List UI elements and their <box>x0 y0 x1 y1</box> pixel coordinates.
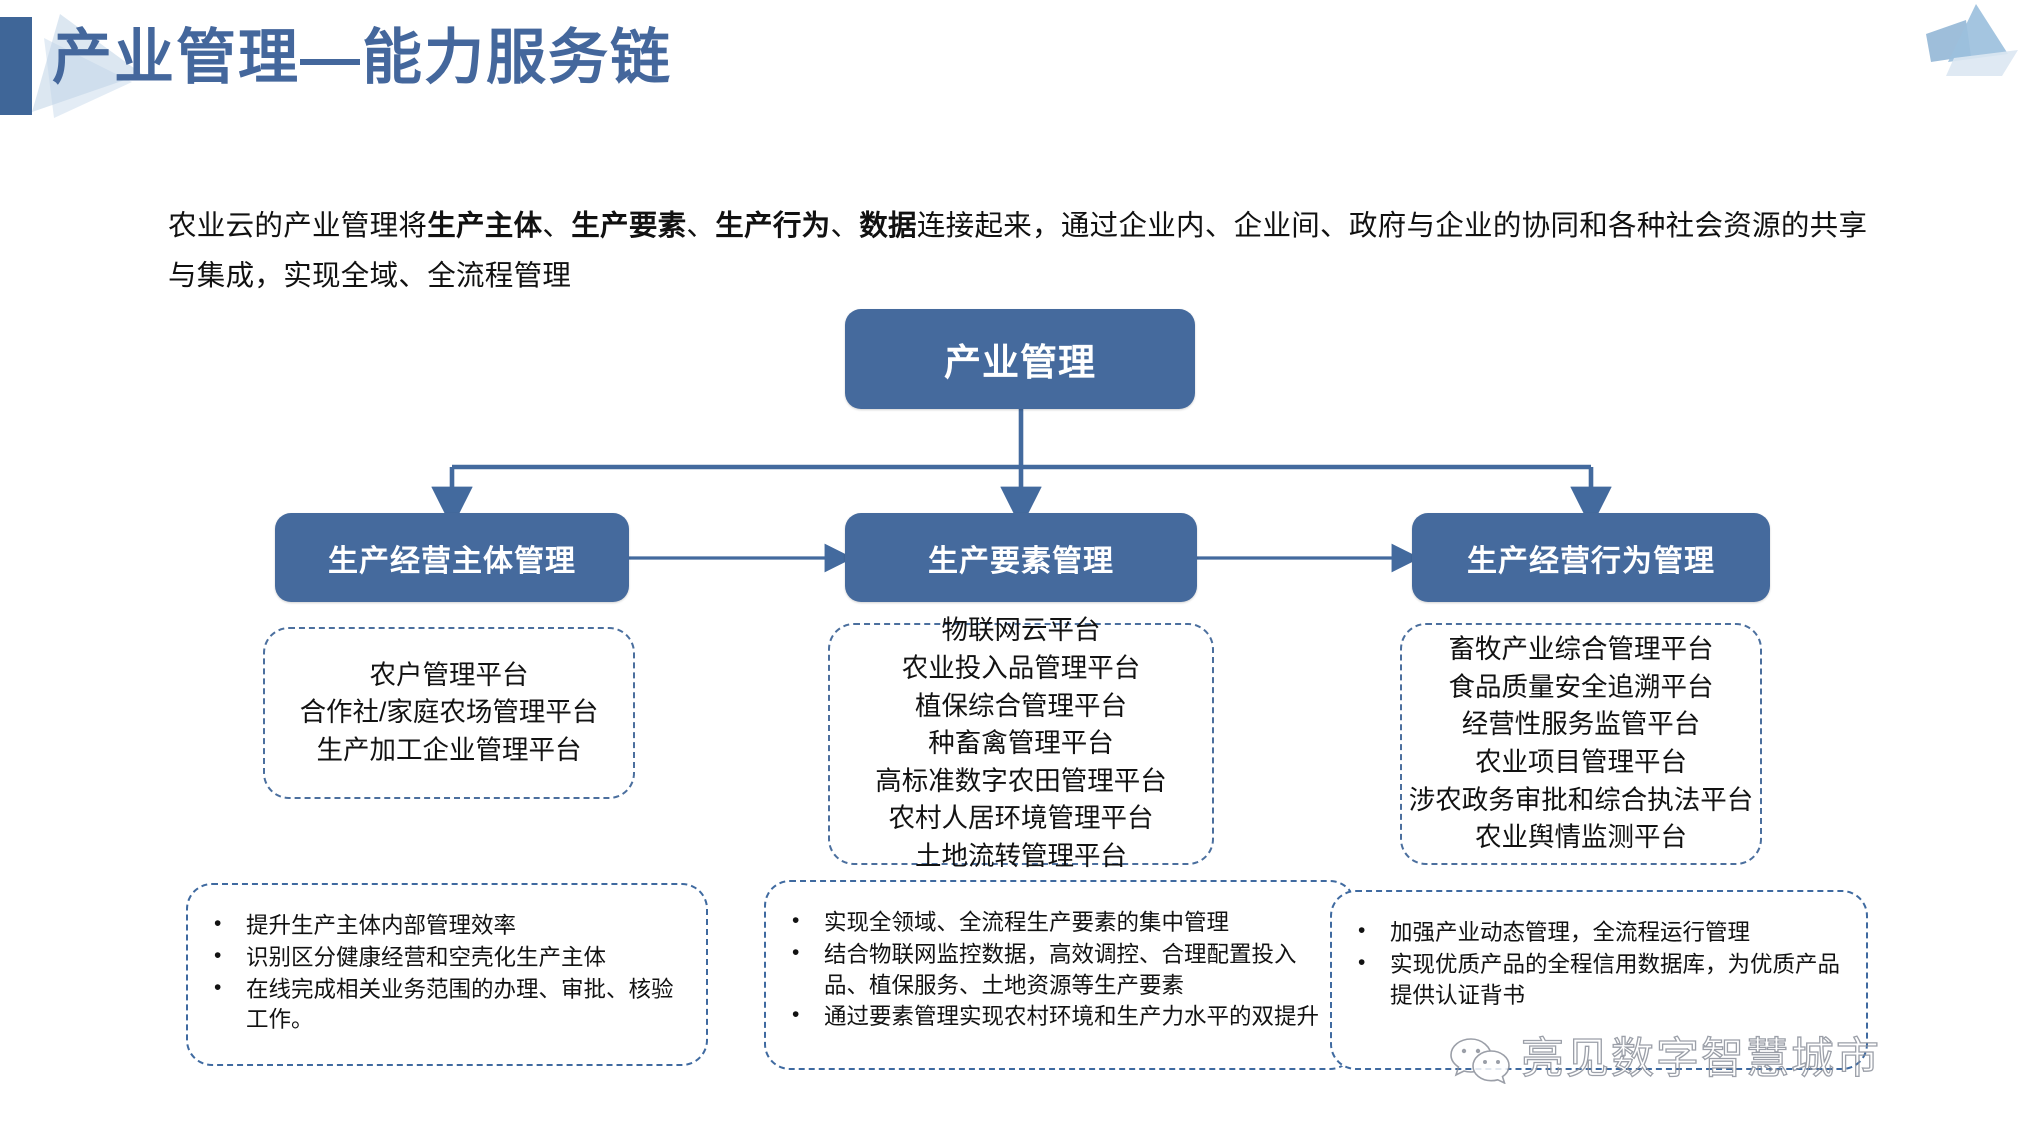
note-item: 实现全领域、全流程生产要素的集中管理 <box>784 908 1334 939</box>
node-root-industry-management[interactable]: 产业管理 <box>845 309 1195 409</box>
node-root-label: 产业管理 <box>944 332 1096 386</box>
watermark-text: 亮见数字智慧城市 <box>1521 1038 1881 1081</box>
intro-bold-3: 生产行为 <box>715 210 830 242</box>
note-item: 实现优质产品的全程信用数据库，为优质产品提供认证背书 <box>1350 950 1846 1012</box>
intro-paragraph: 农业云的产业管理将生产主体、生产要素、生产行为、数据连接起来，通过企业内、企业间… <box>168 201 1868 302</box>
wechat-icon <box>1449 1034 1511 1084</box>
note-item: 通过要素管理实现农村环境和生产力水平的双提升 <box>784 1002 1334 1033</box>
node-subject-management[interactable]: 生产经营主体管理 <box>275 513 629 602</box>
platform-item: 高标准数字农田管理平台 <box>875 763 1167 801</box>
platform-list-behavior: 畜牧产业综合管理平台 食品质量安全追溯平台 经营性服务监管平台 农业项目管理平台… <box>1400 623 1762 865</box>
platform-item: 畜牧产业综合管理平台 <box>1449 631 1714 669</box>
corner-triangles-logo <box>1924 0 2022 78</box>
intro-bold-1: 生产主体 <box>427 210 542 242</box>
intro-bold-2: 生产要素 <box>571 210 686 242</box>
platform-item: 生产加工企业管理平台 <box>317 732 582 770</box>
notes-factor: 实现全领域、全流程生产要素的集中管理 结合物联网监控数据，高效调控、合理配置投入… <box>764 880 1356 1070</box>
node-factor-label: 生产要素管理 <box>928 536 1114 580</box>
note-item: 结合物联网监控数据，高效调控、合理配置投入品、植保服务、土地资源等生产要素 <box>784 940 1334 1002</box>
platform-list-subject: 农户管理平台 合作社/家庭农场管理平台 生产加工企业管理平台 <box>263 627 635 799</box>
node-factor-management[interactable]: 生产要素管理 <box>845 513 1197 602</box>
note-item: 提升生产主体内部管理效率 <box>206 911 686 942</box>
platform-list-factor: 物联网云平台 农业投入品管理平台 植保综合管理平台 种畜禽管理平台 高标准数字农… <box>828 623 1214 865</box>
notes-list: 提升生产主体内部管理效率 识别区分健康经营和空壳化生产主体 在线完成相关业务范围… <box>206 911 686 1036</box>
platform-item: 农村人居环境管理平台 <box>889 800 1154 838</box>
platform-item: 物联网云平台 <box>942 612 1101 650</box>
node-behavior-management[interactable]: 生产经营行为管理 <box>1412 513 1770 602</box>
notes-list: 加强产业动态管理，全流程运行管理 实现优质产品的全程信用数据库，为优质产品提供认… <box>1350 918 1846 1011</box>
platform-item: 植保综合管理平台 <box>915 688 1127 726</box>
platform-item: 食品质量安全追溯平台 <box>1449 669 1714 707</box>
watermark: 亮见数字智慧城市 <box>1449 1034 1881 1084</box>
platform-item: 农户管理平台 <box>370 657 529 695</box>
node-behavior-label: 生产经营行为管理 <box>1467 536 1715 580</box>
intro-sep-1: 、 <box>542 210 571 242</box>
intro-bold-4: 数据 <box>859 210 917 242</box>
note-item: 加强产业动态管理，全流程运行管理 <box>1350 918 1846 949</box>
node-subject-label: 生产经营主体管理 <box>328 536 576 580</box>
slide-canvas: 产业管理—能力服务链 农业云的产业管理将生产主体、生产要素、生产行为、数据连接起… <box>0 0 2026 1140</box>
platform-item: 土地流转管理平台 <box>915 838 1127 876</box>
platform-item: 农业投入品管理平台 <box>902 650 1141 688</box>
note-item: 识别区分健康经营和空壳化生产主体 <box>206 943 686 974</box>
platform-item: 种畜禽管理平台 <box>928 725 1114 763</box>
notes-list: 实现全领域、全流程生产要素的集中管理 结合物联网监控数据，高效调控、合理配置投入… <box>784 908 1334 1033</box>
note-item: 在线完成相关业务范围的办理、审批、核验工作。 <box>206 975 686 1037</box>
platform-item: 农业项目管理平台 <box>1475 744 1687 782</box>
intro-sep-3: 、 <box>830 210 859 242</box>
notes-subject: 提升生产主体内部管理效率 识别区分健康经营和空壳化生产主体 在线完成相关业务范围… <box>186 883 708 1066</box>
intro-part1: 农业云的产业管理将 <box>168 210 427 242</box>
intro-sep-2: 、 <box>686 210 715 242</box>
platform-item: 合作社/家庭农场管理平台 <box>300 694 599 732</box>
platform-item: 农业舆情监测平台 <box>1475 819 1687 857</box>
page-title: 产业管理—能力服务链 <box>52 23 672 92</box>
platform-item: 涉农政务审批和综合执法平台 <box>1409 782 1754 820</box>
platform-item: 经营性服务监管平台 <box>1462 706 1701 744</box>
